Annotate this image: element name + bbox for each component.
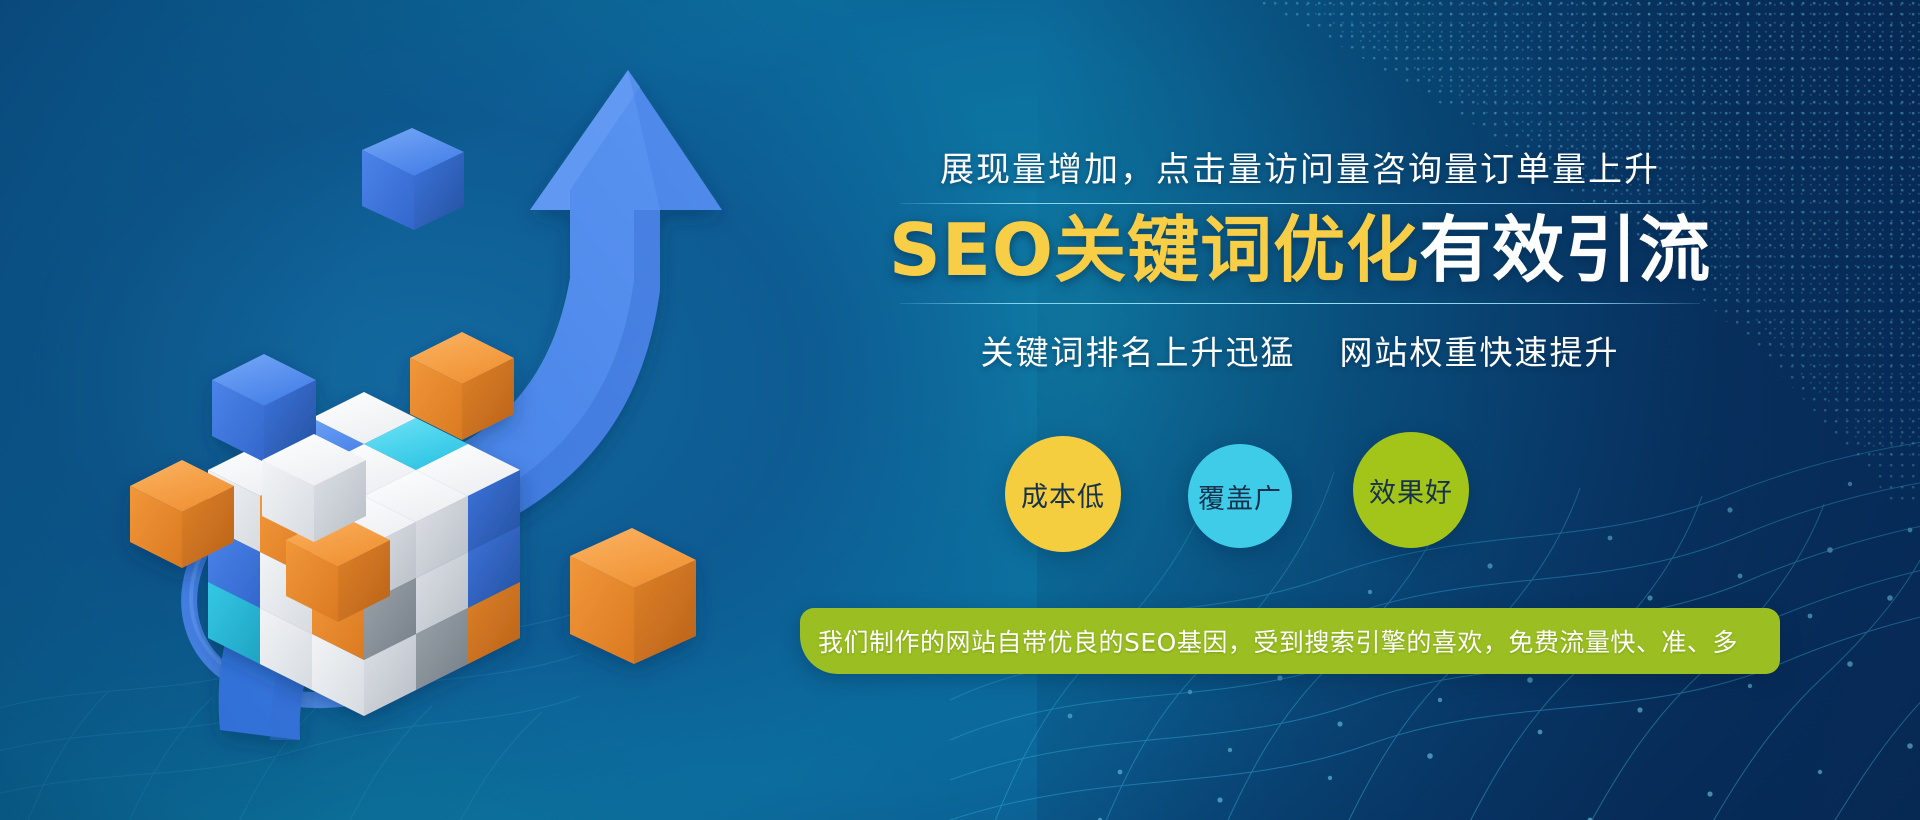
main-title-white: 有效引流	[1419, 208, 1711, 292]
divider-bottom	[900, 303, 1700, 304]
headline-block: 展现量增加，点击量访问量咨询量订单量上升 SEO关键词优化有效引流 关键词排名上…	[880, 150, 1720, 374]
main-title-highlight: SEO关键词优化	[889, 208, 1419, 292]
benefit-badges: 成本低 覆盖广 效果好	[1005, 432, 1565, 608]
rubiks-cube-icon	[130, 332, 520, 716]
sub-headline-right: 网站权重快速提升	[1340, 333, 1620, 372]
footer-pill-bar[interactable]: 我们制作的网站自带优良的SEO基因，受到搜索引擎的喜欢，免费流量快、准、多	[800, 608, 1780, 674]
headline-top: 展现量增加，点击量访问量咨询量订单量上升	[880, 150, 1720, 190]
footer-pill-text: 我们制作的网站自带优良的SEO基因，受到搜索引擎的喜欢，免费流量快、准、多	[800, 623, 1738, 659]
main-title: SEO关键词优化有效引流	[880, 210, 1720, 291]
floating-blue-cube-icon	[362, 128, 464, 230]
sub-headline-left: 关键词排名上升迅猛	[981, 333, 1296, 372]
hero-artwork	[100, 40, 820, 780]
divider-top	[900, 203, 1700, 204]
badge-low-cost[interactable]: 成本低	[1005, 436, 1121, 552]
badge-wide-coverage[interactable]: 覆盖广	[1188, 444, 1292, 548]
sub-headline: 关键词排名上升迅猛网站权重快速提升	[880, 326, 1720, 374]
badge-good-results[interactable]: 效果好	[1353, 432, 1469, 548]
seo-promo-banner: 展现量增加，点击量访问量咨询量订单量上升 SEO关键词优化有效引流 关键词排名上…	[0, 0, 1920, 820]
orange-cube-icon	[570, 528, 696, 664]
